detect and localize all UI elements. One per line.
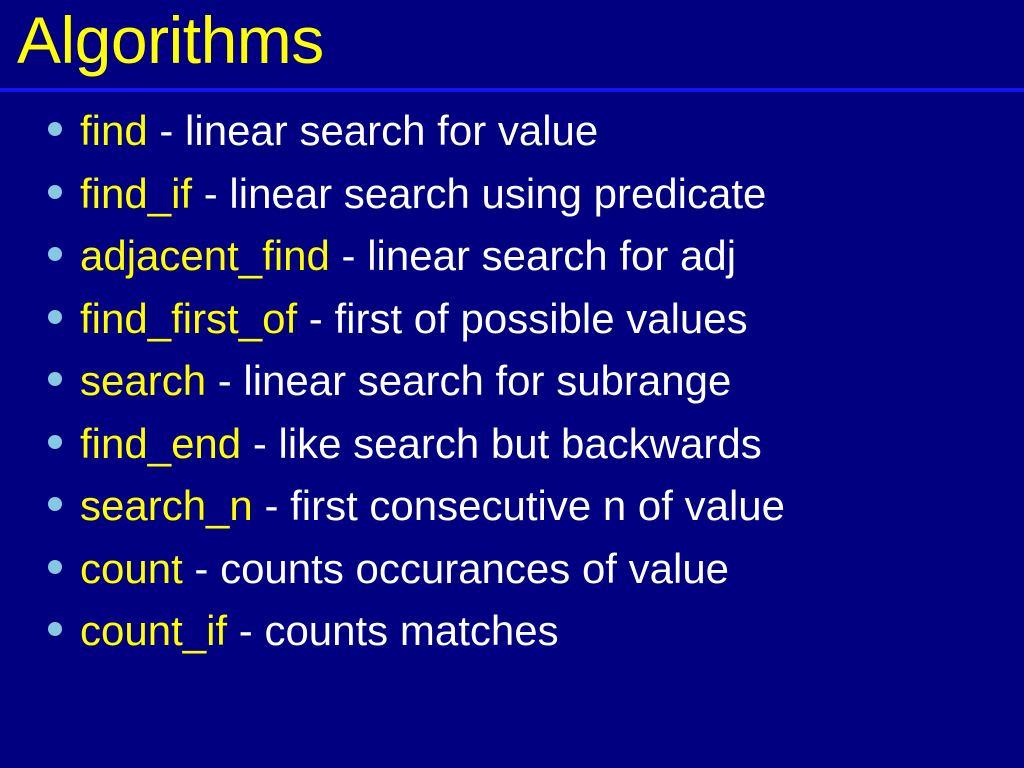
separator-dash: - (183, 545, 220, 592)
list-item: adjacent_find - linear search for adj (0, 225, 1024, 288)
algorithm-name: find_end (80, 420, 241, 467)
algorithm-description: linear search for subrange (243, 357, 731, 404)
list-item-text: search_n - first consecutive n of value (80, 475, 785, 538)
list-item: search - linear search for subrange (0, 350, 1024, 413)
list-item-text: count - counts occurances of value (80, 538, 729, 601)
algorithm-name: search_n (80, 482, 253, 529)
algorithm-name: find (80, 107, 148, 154)
list-item: find - linear search for value (0, 100, 1024, 163)
bullet-dot-icon (48, 560, 62, 574)
separator-dash: - (192, 170, 229, 217)
algorithm-bullet-list: find - linear search for valuefind_if - … (0, 100, 1024, 663)
algorithm-description: like search but backwards (278, 420, 761, 467)
algorithm-name: adjacent_find (80, 232, 330, 279)
algorithm-description: linear search using predicate (229, 170, 766, 217)
list-item-text: count_if - counts matches (80, 600, 559, 663)
separator-dash: - (227, 607, 264, 654)
separator-dash: - (241, 420, 278, 467)
list-item-text: search - linear search for subrange (80, 350, 731, 413)
presentation-slide: Algorithms find - linear search for valu… (0, 0, 1024, 768)
algorithm-name: count_if (80, 607, 227, 654)
separator-dash: - (253, 482, 290, 529)
bullet-dot-icon (48, 622, 62, 636)
list-item: count_if - counts matches (0, 600, 1024, 663)
bullet-dot-icon (48, 310, 62, 324)
list-item: count - counts occurances of value (0, 538, 1024, 601)
algorithm-description: first of possible values (334, 295, 747, 342)
separator-dash: - (206, 357, 243, 404)
bullet-dot-icon (48, 185, 62, 199)
title-divider-rule (0, 88, 1024, 92)
list-item: find_first_of - first of possible values (0, 288, 1024, 351)
algorithm-name: count (80, 545, 183, 592)
separator-dash: - (330, 232, 367, 279)
list-item: find_if - linear search using predicate (0, 163, 1024, 226)
algorithm-description: first consecutive n of value (290, 482, 785, 529)
list-item-text: find_first_of - first of possible values (80, 288, 748, 351)
list-item: search_n - first consecutive n of value (0, 475, 1024, 538)
algorithm-description: linear search for value (185, 107, 598, 154)
bullet-dot-icon (48, 247, 62, 261)
bullet-dot-icon (48, 122, 62, 136)
algorithm-name: find_if (80, 170, 192, 217)
algorithm-name: find_first_of (80, 295, 297, 342)
list-item-text: adjacent_find - linear search for adj (80, 225, 736, 288)
bullet-dot-icon (48, 435, 62, 449)
algorithm-description: counts matches (264, 607, 558, 654)
algorithm-description: linear search for adj (367, 232, 736, 279)
bullet-dot-icon (48, 497, 62, 511)
slide-title-area: Algorithms (0, 0, 1024, 88)
algorithm-name: search (80, 357, 206, 404)
separator-dash: - (297, 295, 334, 342)
list-item-text: find_if - linear search using predicate (80, 163, 766, 226)
list-item: find_end - like search but backwards (0, 413, 1024, 476)
list-item-text: find - linear search for value (80, 100, 598, 163)
page-title: Algorithms (17, 2, 324, 78)
bullet-dot-icon (48, 372, 62, 386)
list-item-text: find_end - like search but backwards (80, 413, 762, 476)
separator-dash: - (148, 107, 185, 154)
algorithm-description: counts occurances of value (220, 545, 729, 592)
